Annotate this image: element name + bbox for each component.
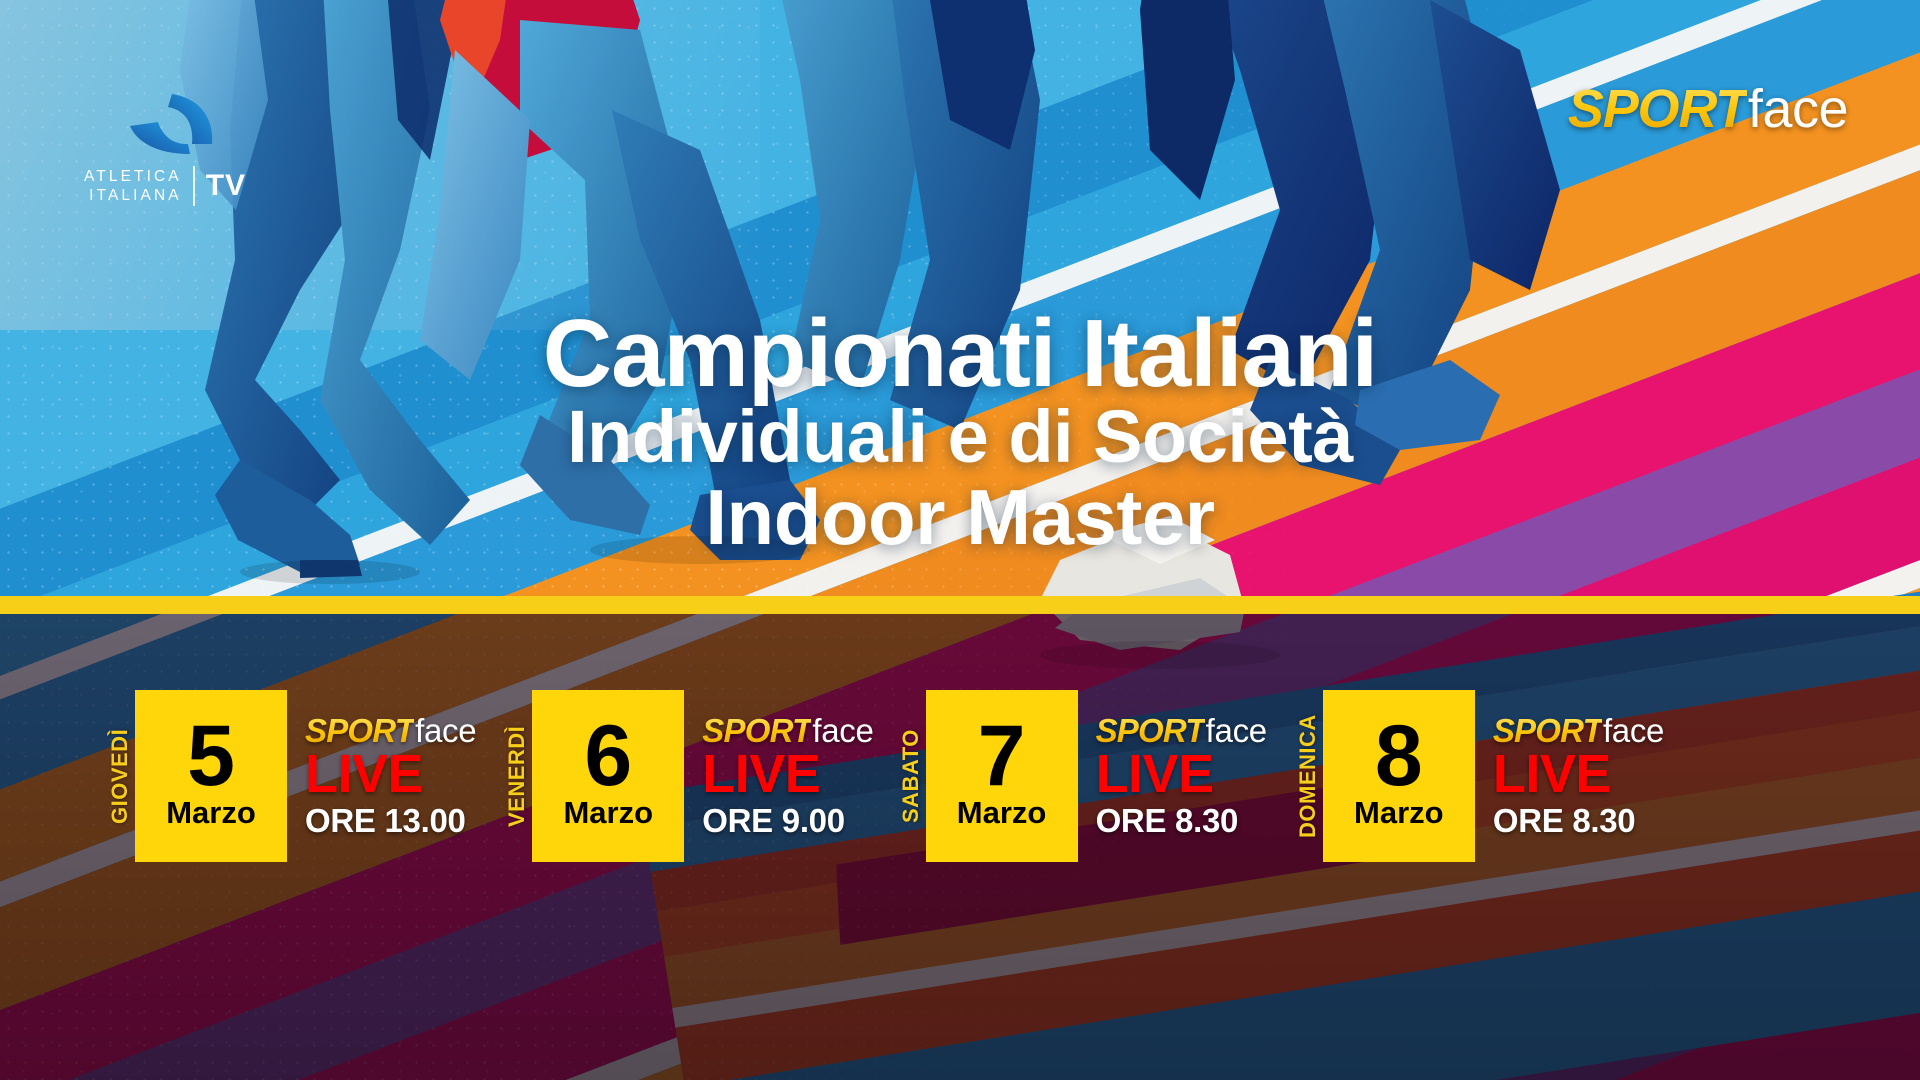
schedule-card[interactable]: GIOVEDÌ 5 Marzo SPORT face LIVE ORE 13.0… bbox=[105, 690, 476, 862]
card-day-number: 8 bbox=[1375, 718, 1423, 794]
card-live-info: SPORT face LIVE ORE 9.00 bbox=[684, 690, 873, 862]
card-live-badge: LIVE bbox=[1493, 749, 1664, 799]
card-sportface-logo: SPORT face bbox=[1493, 714, 1664, 747]
card-weekday: GIOVEDÌ bbox=[105, 690, 135, 862]
card-sportface-logo: SPORT face bbox=[1096, 714, 1267, 747]
card-time: ORE 8.30 bbox=[1493, 803, 1664, 839]
card-live-info: SPORT face LIVE ORE 13.00 bbox=[287, 690, 476, 862]
event-poster: ATLETICA ITALIANA TV SPORT face Campiona… bbox=[0, 0, 1920, 1080]
card-month-name: Marzo bbox=[166, 796, 256, 830]
card-weekday: DOMENICA bbox=[1293, 690, 1323, 862]
yellow-divider-rule bbox=[0, 596, 1920, 614]
card-live-badge: LIVE bbox=[305, 749, 476, 799]
card-sportface-light: face bbox=[1603, 714, 1664, 747]
broadcast-schedule: GIOVEDÌ 5 Marzo SPORT face LIVE ORE 13.0… bbox=[105, 690, 1865, 870]
card-sportface-light: face bbox=[415, 714, 476, 747]
atletica-italiana-tv-logo[interactable]: ATLETICA ITALIANA TV bbox=[84, 92, 314, 206]
event-title-block: Campionati Italiani Individuali e di Soc… bbox=[0, 310, 1920, 558]
logo-tv-suffix: TV bbox=[206, 171, 246, 201]
schedule-card[interactable]: DOMENICA 8 Marzo SPORT face LIVE ORE 8.3… bbox=[1293, 690, 1664, 862]
schedule-card[interactable]: SABATO 7 Marzo SPORT face LIVE ORE 8.30 bbox=[896, 690, 1267, 862]
card-live-info: SPORT face LIVE ORE 8.30 bbox=[1078, 690, 1267, 862]
sportface-light-text: face bbox=[1748, 78, 1848, 140]
card-weekday: SABATO bbox=[896, 690, 926, 862]
card-month-name: Marzo bbox=[957, 796, 1047, 830]
swoosh-arc-icon bbox=[128, 92, 220, 154]
card-live-badge: LIVE bbox=[1096, 749, 1267, 799]
card-day-number: 5 bbox=[187, 718, 235, 794]
card-live-info: SPORT face LIVE ORE 8.30 bbox=[1475, 690, 1664, 862]
logo-divider bbox=[193, 166, 195, 206]
card-live-badge: LIVE bbox=[702, 749, 873, 799]
sportface-logo[interactable]: SPORT face bbox=[1568, 78, 1848, 140]
event-title-line-3: Indoor Master bbox=[0, 476, 1920, 558]
card-sportface-logo: SPORT face bbox=[305, 714, 476, 747]
card-sportface-bold: SPORT bbox=[1493, 714, 1602, 747]
card-day-number: 6 bbox=[584, 718, 632, 794]
card-sportface-logo: SPORT face bbox=[702, 714, 873, 747]
card-sportface-bold: SPORT bbox=[702, 714, 811, 747]
event-title-line-2: Individuali e di Società bbox=[0, 398, 1920, 476]
card-sportface-light: face bbox=[1206, 714, 1267, 747]
sportface-bold-text: SPORT bbox=[1568, 78, 1747, 140]
event-title-line-1: Campionati Italiani bbox=[0, 310, 1920, 398]
card-month-name: Marzo bbox=[563, 796, 653, 830]
card-time: ORE 8.30 bbox=[1096, 803, 1267, 839]
card-time: ORE 9.00 bbox=[702, 803, 873, 839]
card-sportface-bold: SPORT bbox=[305, 714, 414, 747]
card-time: ORE 13.00 bbox=[305, 803, 476, 839]
schedule-card[interactable]: VENERDÌ 6 Marzo SPORT face LIVE ORE 9.00 bbox=[502, 690, 873, 862]
card-sportface-bold: SPORT bbox=[1096, 714, 1205, 747]
card-date-box: 8 Marzo bbox=[1323, 690, 1475, 862]
card-date-box: 5 Marzo bbox=[135, 690, 287, 862]
card-day-number: 7 bbox=[978, 718, 1026, 794]
card-weekday: VENERDÌ bbox=[502, 690, 532, 862]
logo-line-atletica: ATLETICA bbox=[84, 167, 182, 186]
card-date-box: 7 Marzo bbox=[926, 690, 1078, 862]
card-sportface-light: face bbox=[812, 714, 873, 747]
logo-line-italiana: ITALIANA bbox=[84, 186, 182, 205]
card-month-name: Marzo bbox=[1354, 796, 1444, 830]
card-date-box: 6 Marzo bbox=[532, 690, 684, 862]
